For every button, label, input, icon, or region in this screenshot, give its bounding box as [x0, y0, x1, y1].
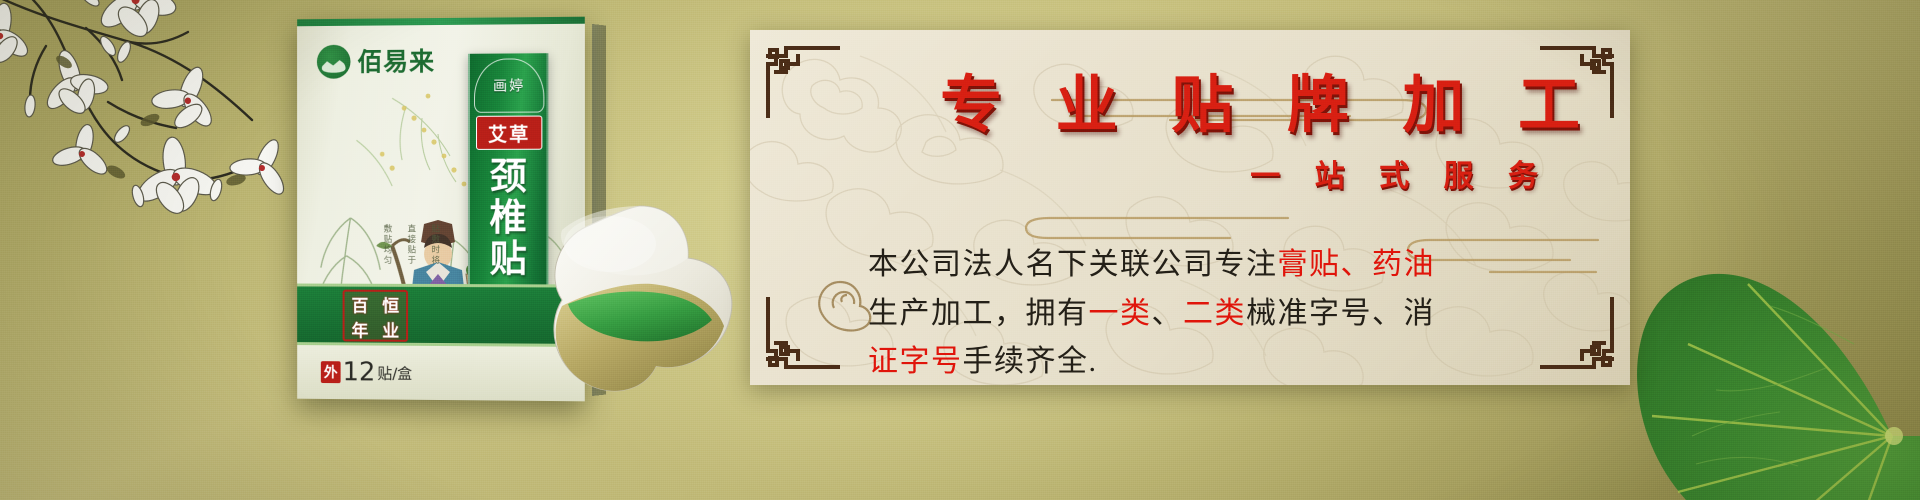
label-char-1: 颈 — [490, 158, 527, 195]
body-line-3: 证字号手续齐全. — [868, 339, 1534, 385]
seal-char-1: 百 — [345, 292, 376, 317]
label-char-2: 椎 — [490, 199, 527, 236]
dose-unit: 贴/盒 — [377, 362, 412, 383]
box-top-green-bar — [297, 17, 585, 27]
body-line-1-black: 本公司法人名下关联公司专注 — [868, 248, 1278, 281]
seal-char-2: 恒 — [375, 292, 406, 317]
body-copy: 本公司法人名下关联公司专注膏贴、药油 生产加工，拥有一类、二类械准字号、消 证字… — [868, 242, 1534, 385]
body-line-2-sep: 、 — [1152, 297, 1184, 330]
body-line-2-black-a: 生产加工，拥有 — [868, 297, 1089, 330]
body-line-3-red: 证字号 — [868, 345, 963, 378]
green-leaf-icon — [1630, 240, 1920, 500]
subheadline: 一 站 式 服 务 — [750, 162, 1550, 192]
body-line-1-red: 膏贴、药油 — [1278, 248, 1436, 281]
body-line-3-black: 手续齐全. — [963, 345, 1098, 378]
headline: 专 业 贴 牌 加 工 — [750, 74, 1596, 136]
corner-ornament-bottom-right-icon — [1538, 295, 1616, 373]
label-red-badge: 艾草 — [476, 116, 542, 150]
bai-yi-lai-logo-icon — [317, 45, 351, 79]
label-red-text: 艾草 — [488, 119, 530, 146]
body-line-2-red-1: 一类 — [1089, 297, 1152, 330]
fan-text: 画婷 — [493, 75, 525, 95]
brand-row: 佰易来 — [317, 44, 435, 79]
dose-count: 12 — [343, 359, 376, 385]
body-line-1: 本公司法人名下关联公司专注膏贴、药油 — [868, 242, 1534, 288]
magnolia-branch-icon — [0, 0, 310, 224]
brand-name: 佰易来 — [357, 49, 435, 74]
seal-char-3: 年 — [345, 317, 376, 342]
body-line-2-red-2: 二类 — [1183, 297, 1246, 330]
body-line-2: 生产加工，拥有一类、二类械准字号、消 — [868, 291, 1534, 337]
seal-char-4: 业 — [375, 317, 406, 342]
promotional-banner: 佰易来 — [0, 0, 1920, 500]
fan-emblem: 画婷 — [474, 58, 544, 113]
label-char-3: 贴 — [490, 240, 527, 277]
cervical-patch — [540, 196, 740, 401]
content-panel: 专 业 贴 牌 加 工 一 站 式 服 务 本公司法人名下关联公司专注膏贴、药油… — [750, 30, 1630, 385]
body-line-2-black-b: 械准字号、消 — [1246, 297, 1435, 330]
heritage-seal: 百 恒 年 业 — [343, 290, 409, 342]
dosage-info: 外 12 贴/盒 — [321, 359, 412, 386]
external-use-badge: 外 — [321, 361, 341, 383]
